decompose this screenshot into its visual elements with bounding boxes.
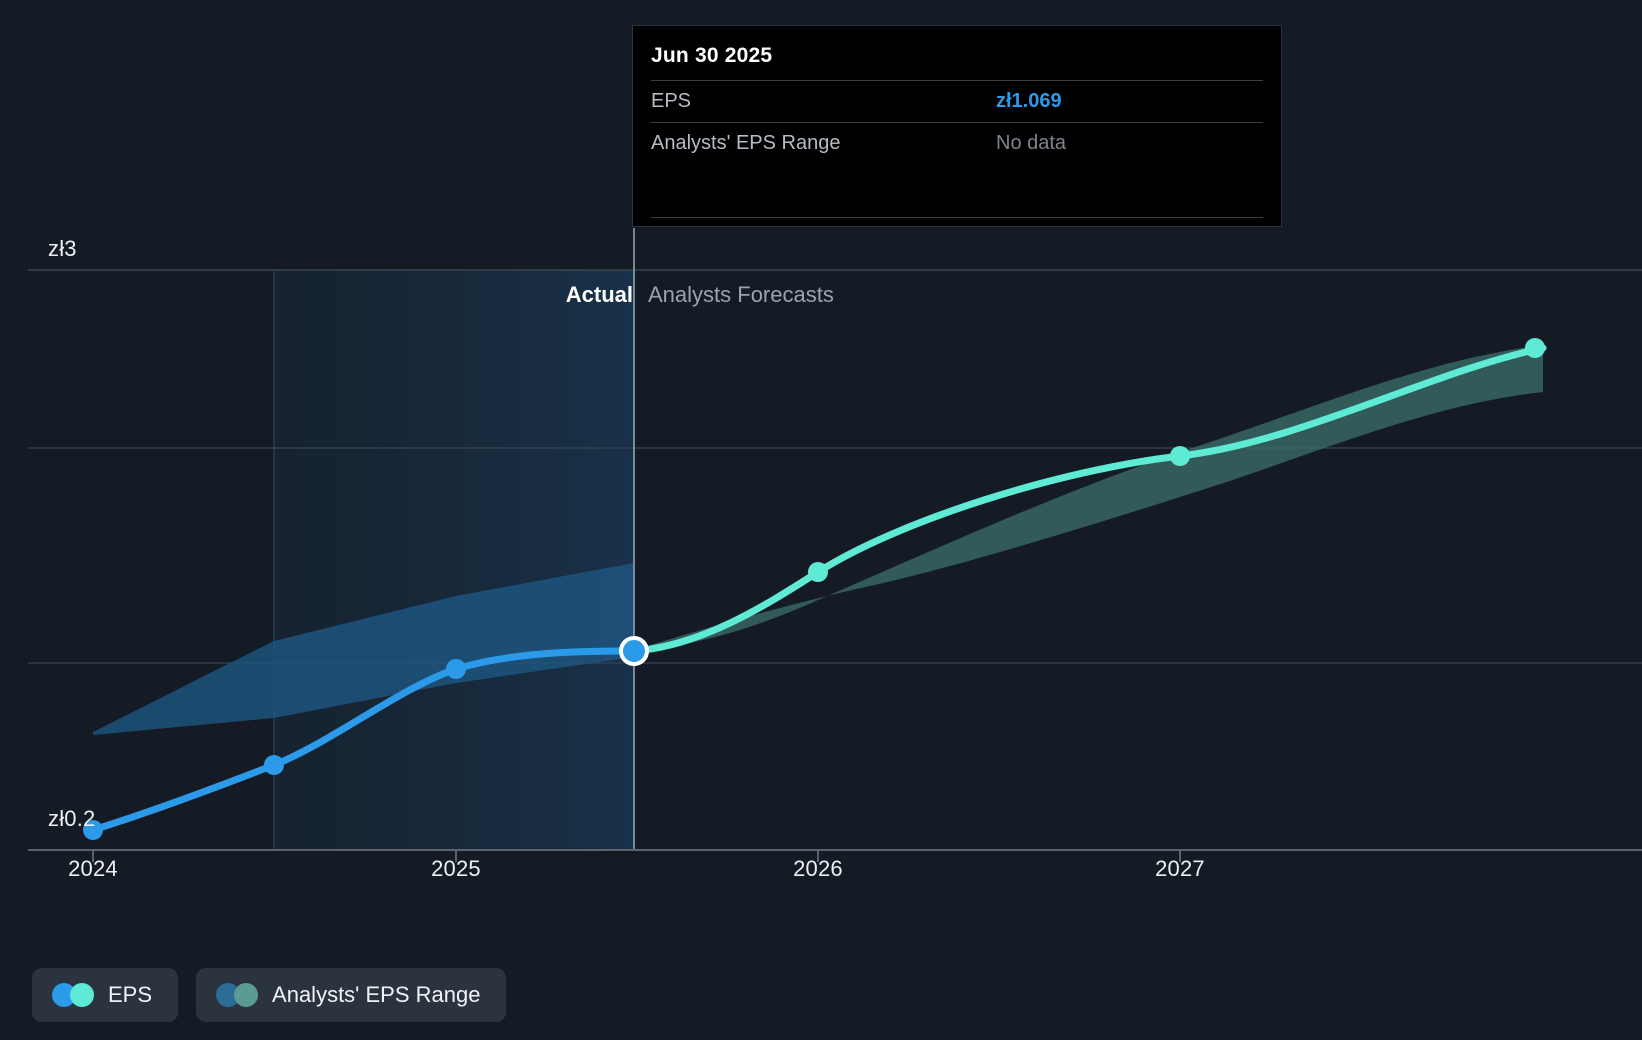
legend-item-eps[interactable]: EPS (32, 968, 178, 1022)
data-point-actual (264, 755, 284, 775)
data-point-forecast (1525, 338, 1545, 358)
x-axis-label-2024: 2024 (68, 856, 118, 882)
forecast-region-label: Analysts Forecasts (648, 282, 834, 308)
tooltip-title: Jun 30 2025 (651, 44, 1263, 80)
tooltip-row-eps-range: Analysts' EPS Range No data (651, 122, 1263, 164)
chart-tooltip: Jun 30 2025 EPS zł1.069 Analysts' EPS Ra… (632, 25, 1282, 227)
tooltip-row-label: Analysts' EPS Range (651, 132, 996, 155)
data-point-forecast (808, 562, 828, 582)
tooltip-row-value: zł1.069 (996, 90, 1062, 113)
tooltip-footer-divider (651, 217, 1263, 218)
actual-region-label: Actual (566, 282, 633, 308)
legend-item-analysts-eps-range[interactable]: Analysts' EPS Range (196, 968, 506, 1022)
y-axis-label-top: zł3 (48, 236, 77, 262)
y-axis-label-bottom: zł0.2 (48, 806, 95, 832)
data-point-actual (446, 659, 466, 679)
tooltip-row-value: No data (996, 132, 1066, 155)
eps-forecast-chart: zł3 zł0.2 2024 2025 2026 2027 Actual Ana… (0, 0, 1642, 1040)
x-axis-label-2027: 2027 (1155, 856, 1205, 882)
x-axis-label-2026: 2026 (793, 856, 843, 882)
legend-item-label: EPS (108, 982, 152, 1008)
data-point-highlighted (621, 638, 647, 664)
tooltip-row-label: EPS (651, 90, 996, 113)
chart-legend: EPS Analysts' EPS Range (32, 968, 506, 1022)
legend-swatch-icon (216, 983, 258, 1007)
x-axis-labels: 2024 2025 2026 2027 (0, 856, 1642, 896)
legend-swatch-icon (52, 983, 94, 1007)
data-point-forecast (1170, 446, 1190, 466)
actual-region-background (274, 270, 634, 850)
legend-item-label: Analysts' EPS Range (272, 982, 480, 1008)
x-axis-label-2025: 2025 (431, 856, 481, 882)
tooltip-row-eps: EPS zł1.069 (651, 80, 1263, 122)
